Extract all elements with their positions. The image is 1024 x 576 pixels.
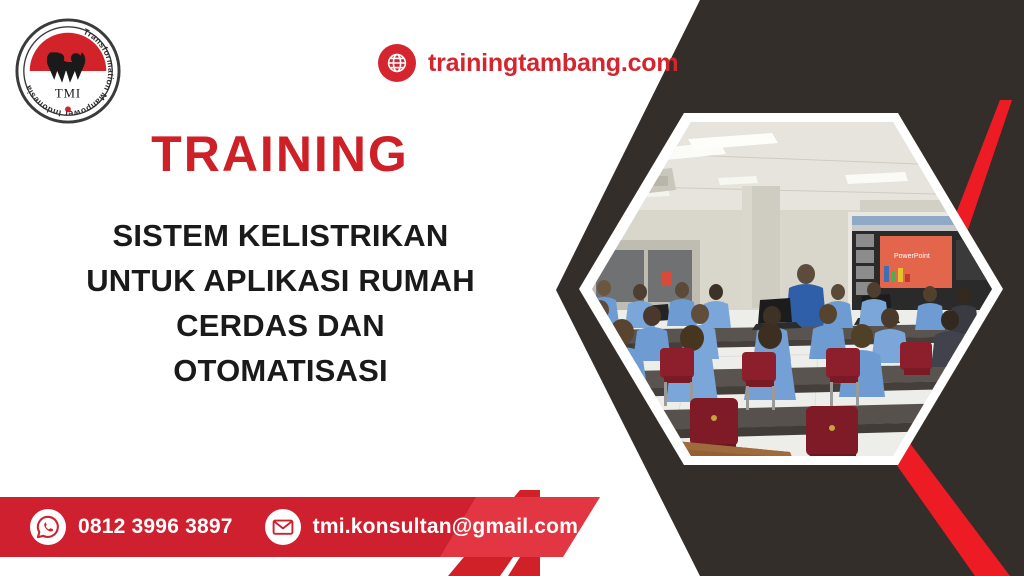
title-line-1: SISTEM KELISTRIKAN: [48, 213, 513, 258]
eyebrow-training: TRAINING: [0, 125, 560, 183]
poster-canvas: PowerPoint: [0, 0, 1024, 576]
whatsapp-icon: [30, 509, 66, 545]
page-title: SISTEM KELISTRIKAN UNTUK APLIKASI RUMAH …: [48, 213, 513, 393]
title-line-3: CERDAS DAN: [48, 303, 513, 348]
title-line-4: OTOMATISASI: [48, 348, 513, 393]
phone-number[interactable]: 0812 3996 3897: [78, 515, 233, 539]
tmi-logo: TMI Transformation Manpower Indonesia: [14, 16, 122, 126]
svg-text:PowerPoint: PowerPoint: [894, 253, 930, 260]
email-contact[interactable]: tmi.konsultan@gmail.com: [265, 509, 578, 545]
svg-text:TMI: TMI: [55, 87, 81, 101]
globe-icon: [378, 44, 416, 82]
contact-footer: 0812 3996 3897 tmi.konsultan@gmail.com: [0, 497, 600, 557]
website-url[interactable]: trainingtambang.com: [428, 49, 678, 78]
envelope-icon: [265, 509, 301, 545]
title-line-2: UNTUK APLIKASI RUMAH: [48, 258, 513, 303]
email-address[interactable]: tmi.konsultan@gmail.com: [313, 515, 578, 539]
website-row[interactable]: trainingtambang.com: [378, 44, 678, 82]
phone-contact[interactable]: 0812 3996 3897: [30, 509, 233, 545]
